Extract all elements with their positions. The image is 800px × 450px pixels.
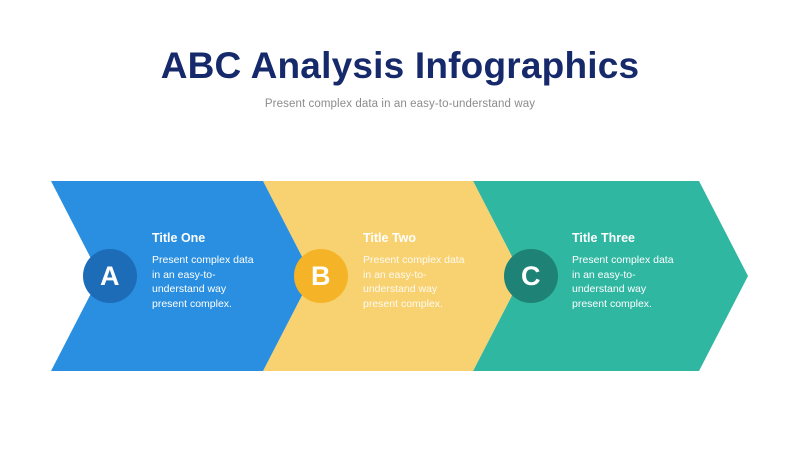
step-three[interactable]: C Title Three Present complex data in an… xyxy=(0,181,760,371)
header: ABC Analysis Infographics Present comple… xyxy=(0,44,800,112)
page-title: ABC Analysis Infographics xyxy=(0,44,800,88)
step-three-text: Title Three Present complex data in an e… xyxy=(572,231,684,311)
step-three-badge[interactable]: C xyxy=(504,249,558,303)
step-three-description: Present complex data in an easy-to-under… xyxy=(572,253,684,311)
page-subtitle: Present complex data in an easy-to-under… xyxy=(0,96,800,112)
step-three-title: Title Three xyxy=(572,231,684,246)
chevron-diagram: A Title One Present complex data in an e… xyxy=(0,181,800,371)
step-three-letter: C xyxy=(521,263,541,290)
slide-canvas: ABC Analysis Infographics Present comple… xyxy=(0,0,800,450)
